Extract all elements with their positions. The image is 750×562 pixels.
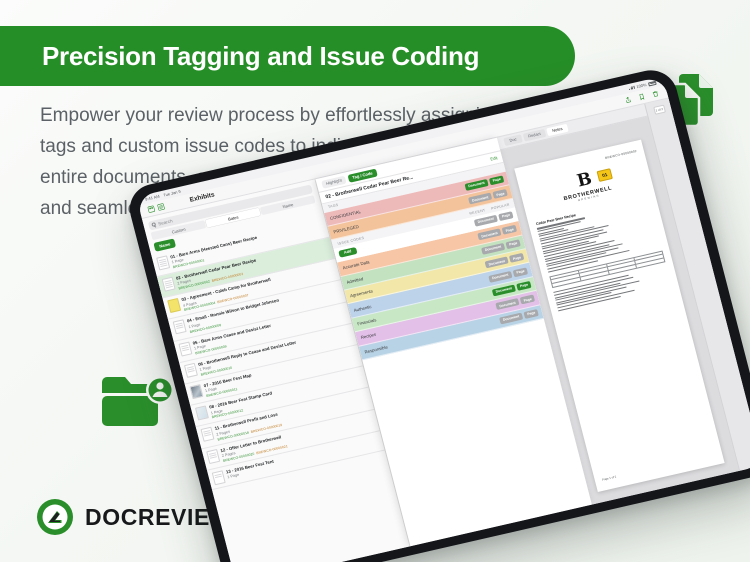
app-content: Search Custom Bates Name Name bbox=[142, 98, 750, 562]
page-title: Precision Tagging and Issue Coding bbox=[0, 41, 479, 72]
document-number: 08 bbox=[209, 404, 215, 410]
issue-page-toggle[interactable]: Page bbox=[513, 267, 529, 277]
bookmark-icon[interactable] bbox=[638, 93, 647, 101]
document-number: 11 bbox=[214, 425, 220, 431]
signal-icon bbox=[628, 85, 635, 90]
document-thumbnail bbox=[173, 320, 187, 335]
issue-document-toggle[interactable]: Document bbox=[492, 284, 516, 296]
trash-icon[interactable] bbox=[651, 90, 660, 98]
grid-view-icon[interactable] bbox=[147, 205, 156, 213]
document-number: 12 bbox=[220, 447, 226, 453]
document-number: 13 bbox=[225, 468, 231, 474]
document-thumbnail bbox=[178, 341, 192, 356]
document-thumbnail bbox=[167, 298, 181, 313]
document-thumbnail bbox=[162, 277, 176, 292]
page-footer: Page 1 of 2 bbox=[602, 474, 617, 481]
tag-document-toggle[interactable]: Document bbox=[468, 193, 492, 205]
document-number: 05 bbox=[192, 339, 198, 345]
folder-user-icon bbox=[98, 370, 178, 432]
issue-document-toggle[interactable]: Document bbox=[481, 243, 505, 255]
issue-document-toggle[interactable]: Document bbox=[499, 312, 523, 324]
issue-document-toggle[interactable]: Document bbox=[495, 298, 519, 310]
issue-document-toggle[interactable]: Document bbox=[488, 271, 512, 283]
tab-redact[interactable]: Redact bbox=[522, 129, 546, 142]
document-thumbnail bbox=[195, 406, 209, 421]
document-number: 02 bbox=[175, 275, 181, 281]
issue-page-toggle[interactable]: Page bbox=[520, 295, 536, 305]
document-thumbnail bbox=[189, 384, 203, 399]
tag-document-toggle[interactable]: Document bbox=[465, 179, 489, 191]
document-thumbnail bbox=[184, 363, 198, 378]
search-placeholder: Search bbox=[158, 218, 173, 226]
header-banner: Precision Tagging and Issue Coding bbox=[0, 26, 575, 86]
issue-page-toggle[interactable]: Page bbox=[505, 239, 521, 249]
document-thumbnail bbox=[206, 449, 220, 464]
document-number: 06 bbox=[198, 361, 204, 367]
share-icon[interactable] bbox=[624, 96, 633, 104]
tag-page-toggle[interactable]: Page bbox=[489, 175, 505, 185]
issue-page-toggle[interactable]: Page bbox=[498, 211, 514, 221]
document-thumbnail bbox=[156, 255, 170, 270]
tag-page-toggle[interactable]: Page bbox=[492, 189, 508, 199]
issue-page-toggle[interactable]: Page bbox=[502, 225, 518, 235]
edit-button[interactable]: Edit bbox=[490, 155, 498, 161]
tab-notes[interactable]: Notes bbox=[546, 124, 568, 136]
document-thumbnail bbox=[201, 427, 215, 442]
list-view-icon[interactable] bbox=[157, 203, 166, 211]
issue-document-toggle[interactable]: Document bbox=[474, 215, 498, 227]
issue-page-toggle[interactable]: Page bbox=[509, 253, 525, 263]
page-indicator: 1 of 2 bbox=[653, 105, 666, 115]
issue-document-toggle[interactable]: Document bbox=[477, 229, 501, 241]
issue-document-toggle[interactable]: Document bbox=[485, 257, 509, 269]
add-issue-code-button[interactable]: Add bbox=[338, 247, 357, 258]
battery-icon bbox=[648, 80, 657, 86]
tab-doc[interactable]: Doc bbox=[504, 134, 523, 145]
issue-page-toggle[interactable]: Page bbox=[516, 281, 532, 291]
document-number: 03 bbox=[181, 296, 187, 302]
document-number: 07 bbox=[203, 382, 209, 388]
document-number: 04 bbox=[186, 318, 192, 324]
document-number: 01 bbox=[170, 253, 176, 259]
docreviewpad-mark-icon bbox=[36, 498, 74, 536]
document-thumbnail bbox=[212, 470, 226, 485]
nav-title: Exhibits bbox=[189, 191, 215, 203]
search-icon bbox=[151, 222, 156, 227]
issue-page-toggle[interactable]: Page bbox=[523, 309, 539, 319]
